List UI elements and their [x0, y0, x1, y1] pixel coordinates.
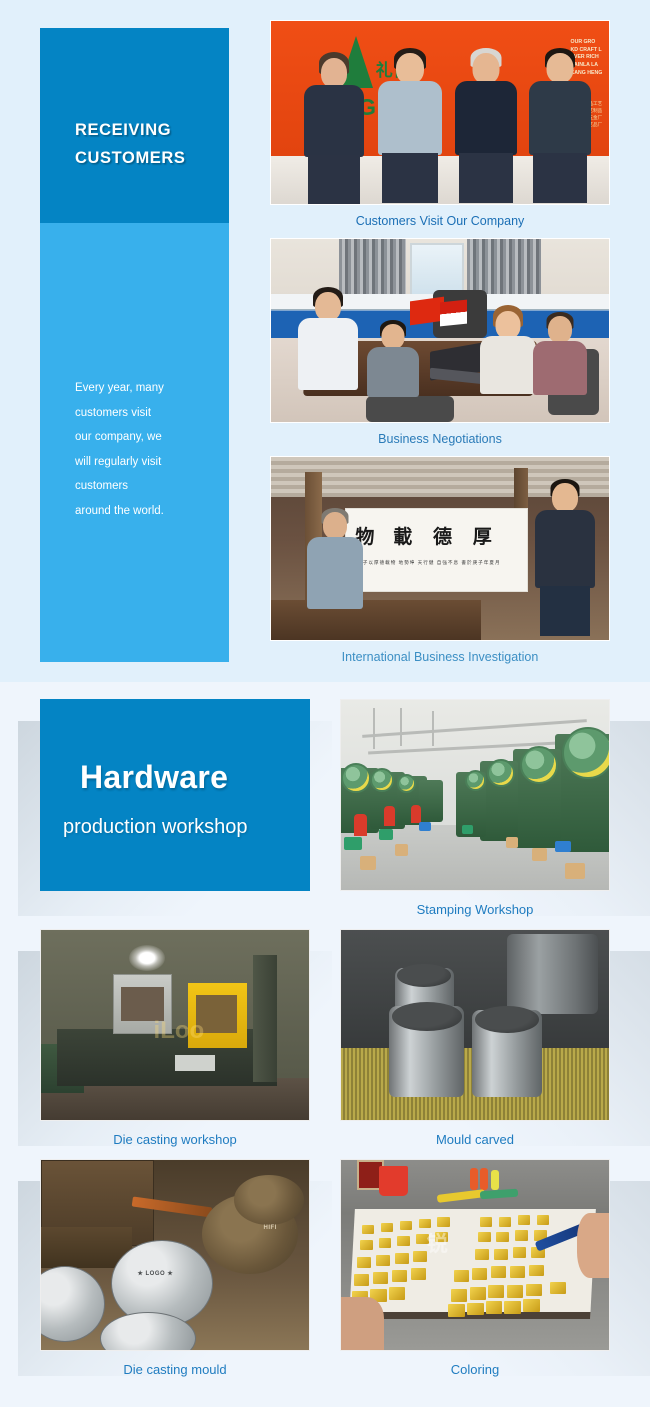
hardware-title: Hardware	[80, 759, 228, 796]
mould-engraving: ★ LOGO ★	[137, 1270, 173, 1277]
body-line-4: will regularly visit	[75, 450, 215, 475]
mould-engraving: HIFI	[264, 1225, 277, 1231]
photo-stamping-workshop	[340, 699, 610, 891]
hardware-row-2: iLoo Die casting workshop Mould ca	[40, 929, 610, 1159]
person-figure	[525, 48, 596, 204]
photo-item-international-investigation: L 物 載 德 厚 君子以厚德載物 地勢坤 天行健 自強不息 書於庚子年夏月	[270, 456, 610, 674]
photo-caption-business-negotiations: Business Negotiations	[270, 423, 610, 456]
hardware-subtitle: production workshop	[63, 816, 248, 839]
person-figure	[528, 479, 602, 640]
hardware-cell-die-casting-workshop: iLoo Die casting workshop	[40, 929, 310, 1159]
photo-customers-visit-our-company: RIC GIF 礼品 OUR GROKD CRAFT LEVER RICHSAI…	[270, 20, 610, 205]
hardware-cell-coloring: 锐 Coloring	[340, 1159, 610, 1389]
receiving-customers-title: RECEIVING CUSTOMERS	[75, 116, 225, 172]
person-figure	[298, 52, 369, 204]
hardware-cell-die-casting-mould: ★ LOGO ★ HIFI Die casting mould	[40, 1159, 310, 1389]
photo-business-negotiations	[270, 238, 610, 423]
title-line-1: RECEIVING	[75, 116, 225, 144]
watermark: 锐	[427, 1228, 448, 1258]
body-line-3: our company, we	[75, 425, 215, 450]
hardware-row-3: ★ LOGO ★ HIFI Die casting mould	[40, 1159, 610, 1389]
body-line-6: around the world.	[75, 499, 215, 524]
person-figure	[291, 287, 365, 422]
hardware-cell-stamping: Stamping Workshop	[340, 699, 610, 929]
person-figure	[372, 48, 446, 204]
photo-caption-stamping-workshop: Stamping Workshop	[340, 891, 610, 929]
body-line-5: customers	[75, 474, 215, 499]
photo-caption-coloring: Coloring	[340, 1351, 610, 1389]
hardware-row-1: Hardware production workshop	[40, 699, 610, 929]
receiving-customers-panel: RECEIVING CUSTOMERS Every year, many cus…	[40, 28, 229, 662]
title-line-2: CUSTOMERS	[75, 144, 225, 172]
hardware-workshop-section: Hardware production workshop	[0, 682, 650, 1407]
person-figure	[362, 320, 423, 422]
photo-item-customers-visit: RIC GIF 礼品 OUR GROKD CRAFT LEVER RICHSAI…	[270, 20, 610, 238]
receiving-customers-body: Every year, many customers visit our com…	[75, 376, 215, 523]
person-figure	[450, 48, 521, 204]
person-figure	[528, 312, 592, 422]
customers-photo-column: RIC GIF 礼品 OUR GROKD CRAFT LEVER RICHSAI…	[270, 20, 610, 674]
hardware-title-cell: Hardware production workshop	[40, 699, 310, 929]
photo-die-casting-mould: ★ LOGO ★ HIFI	[40, 1159, 310, 1351]
photo-coloring: 锐	[340, 1159, 610, 1351]
photo-caption-die-casting-mould: Die casting mould	[40, 1351, 310, 1389]
photo-caption-international-investigation: International Business Investigation	[270, 641, 610, 674]
calligraphy-banner: 物 載 德 厚 君子以厚德載物 地勢坤 天行健 自強不息 書於庚子年夏月	[345, 508, 528, 592]
photo-caption-customers-visit: Customers Visit Our Company	[270, 205, 610, 238]
photo-caption-mould-carved: Mould carved	[340, 1121, 610, 1159]
hardware-cell-mould-carved: Mould carved	[340, 929, 610, 1159]
person-figure	[301, 508, 369, 640]
photo-mould-carved	[340, 929, 610, 1121]
body-line-1: Every year, many	[75, 376, 215, 401]
customers-grid: RECEIVING CUSTOMERS Every year, many cus…	[40, 20, 610, 668]
watermark: iLoo	[154, 1017, 205, 1045]
photo-international-business-investigation: L 物 載 德 厚 君子以厚德載物 地勢坤 天行健 自強不息 書於庚子年夏月	[270, 456, 610, 641]
photo-item-business-negotiations: Business Negotiations	[270, 238, 610, 456]
photo-caption-die-casting-workshop: Die casting workshop	[40, 1121, 310, 1159]
photo-die-casting-workshop: iLoo	[40, 929, 310, 1121]
body-line-2: customers visit	[75, 401, 215, 426]
receiving-customers-section: RECEIVING CUSTOMERS Every year, many cus…	[0, 0, 650, 682]
calligraphy-inscription: 君子以厚德載物 地勢坤 天行健 自強不息 書於庚子年夏月	[357, 560, 516, 566]
hardware-grid: Hardware production workshop	[40, 682, 610, 1407]
hardware-title-panel: Hardware production workshop	[40, 699, 310, 891]
